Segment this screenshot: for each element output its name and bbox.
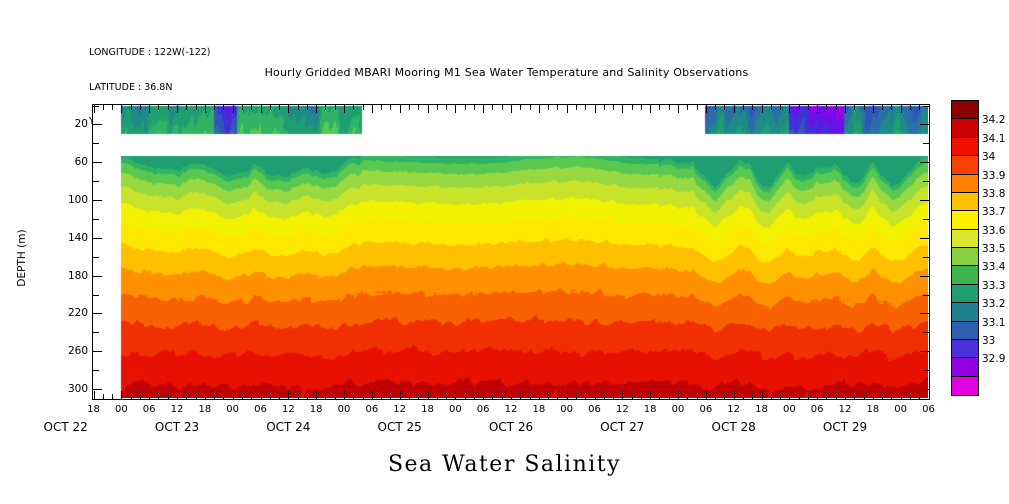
axis-tick — [502, 394, 503, 399]
axis-tick — [93, 124, 102, 125]
axis-tick — [168, 394, 169, 399]
axis-tick — [307, 105, 308, 110]
axis-tick — [446, 105, 447, 110]
axis-tick — [261, 391, 262, 399]
axis-tick — [140, 394, 141, 399]
axis-tick — [93, 238, 102, 239]
colorbar-band — [952, 193, 978, 211]
x-axis-hour-label: 18 — [198, 404, 211, 415]
axis-tick — [335, 105, 336, 110]
axis-tick — [158, 105, 159, 110]
colorbar-tick-label: 33 — [982, 335, 995, 347]
axis-tick — [923, 370, 929, 371]
axis-tick — [891, 105, 892, 110]
axis-tick — [223, 105, 224, 110]
axis-tick — [929, 391, 930, 399]
axis-tick — [465, 394, 466, 399]
axis-tick — [576, 394, 577, 399]
axis-tick — [641, 105, 642, 110]
figure-caption: Sea Water Salinity — [0, 452, 1009, 477]
x-axis-day-label: OCT 29 — [823, 420, 867, 434]
axis-tick — [557, 394, 558, 399]
x-axis-hour-label: 00 — [115, 404, 128, 415]
axis-tick — [910, 394, 911, 399]
x-axis-hour-label: 18 — [644, 404, 657, 415]
axis-tick — [595, 105, 596, 113]
axis-tick — [483, 105, 484, 113]
colorbar-band — [952, 230, 978, 248]
axis-tick — [93, 389, 102, 390]
x-axis-hour-label: 06 — [922, 404, 935, 415]
x-axis-day-label: OCT 28 — [712, 420, 756, 434]
axis-tick — [743, 105, 744, 110]
axis-tick — [771, 105, 772, 110]
axis-tick — [697, 394, 698, 399]
x-axis-hour-label: 18 — [755, 404, 768, 415]
axis-tick — [149, 391, 150, 399]
axis-tick — [929, 105, 930, 113]
y-axis-tick-label: 100 — [68, 194, 88, 206]
axis-tick — [576, 105, 577, 110]
axis-tick — [177, 391, 178, 399]
axis-tick — [344, 105, 345, 113]
axis-tick — [873, 105, 874, 113]
axis-tick — [279, 394, 280, 399]
axis-tick — [567, 391, 568, 399]
axis-tick — [687, 394, 688, 399]
axis-tick — [205, 105, 206, 113]
axis-tick — [548, 105, 549, 110]
axis-tick — [93, 295, 99, 296]
axis-tick — [920, 162, 929, 163]
axis-tick — [724, 105, 725, 110]
x-axis-hour-label: 06 — [477, 404, 490, 415]
axis-tick — [196, 394, 197, 399]
axis-tick — [335, 394, 336, 399]
x-axis-hour-label: 18 — [866, 404, 879, 415]
axis-tick — [261, 105, 262, 113]
axis-tick — [492, 105, 493, 110]
axis-tick — [93, 219, 99, 220]
axis-tick — [520, 394, 521, 399]
axis-tick — [762, 391, 763, 399]
axis-tick — [93, 181, 99, 182]
axis-tick — [93, 200, 102, 201]
axis-tick — [307, 394, 308, 399]
axis-tick — [808, 105, 809, 110]
axis-tick — [214, 105, 215, 110]
x-axis-hour-label: 06 — [699, 404, 712, 415]
axis-tick — [158, 394, 159, 399]
axis-tick — [687, 105, 688, 110]
x-axis-hour-label: 00 — [672, 404, 685, 415]
axis-tick — [112, 394, 113, 399]
axis-tick — [428, 105, 429, 113]
axis-tick — [632, 105, 633, 110]
axis-tick — [418, 394, 419, 399]
axis-tick — [920, 124, 929, 125]
colorbar-tick-label: 34.2 — [982, 114, 1005, 126]
axis-tick — [390, 394, 391, 399]
axis-tick — [920, 276, 929, 277]
axis-tick — [316, 105, 317, 113]
axis-tick — [789, 105, 790, 113]
colorbar-band — [952, 101, 978, 119]
colorbar-tick-label: 33.2 — [982, 298, 1005, 310]
axis-tick — [233, 391, 234, 399]
axis-tick — [659, 105, 660, 110]
axis-tick — [780, 105, 781, 110]
axis-tick — [734, 105, 735, 113]
axis-tick — [103, 394, 104, 399]
axis-tick — [131, 394, 132, 399]
axis-tick — [873, 391, 874, 399]
axis-tick — [465, 105, 466, 110]
axis-tick — [919, 394, 920, 399]
axis-tick — [585, 105, 586, 110]
axis-tick — [734, 391, 735, 399]
axis-tick — [94, 391, 95, 399]
axis-tick — [650, 105, 651, 113]
axis-tick — [93, 276, 102, 277]
x-axis-hour-label: 00 — [226, 404, 239, 415]
axis-tick — [920, 389, 929, 390]
colorbar-band — [952, 156, 978, 174]
axis-tick — [93, 313, 102, 314]
axis-tick — [196, 105, 197, 110]
x-axis-hour-label: 00 — [338, 404, 351, 415]
axis-tick — [93, 106, 99, 107]
axis-tick — [836, 394, 837, 399]
salinity-contour-field — [93, 105, 928, 398]
axis-tick — [474, 394, 475, 399]
axis-tick — [762, 105, 763, 113]
x-axis-day-label: OCT 22 — [44, 420, 88, 434]
axis-tick — [270, 105, 271, 110]
x-axis-hour-label: 12 — [616, 404, 629, 415]
axis-tick — [400, 391, 401, 399]
axis-tick — [613, 105, 614, 110]
axis-tick — [149, 105, 150, 113]
axis-tick — [864, 105, 865, 110]
colorbar-band — [952, 322, 978, 340]
axis-tick — [567, 105, 568, 113]
axis-tick — [854, 394, 855, 399]
x-axis-hour-label: 00 — [783, 404, 796, 415]
axis-tick — [93, 162, 102, 163]
colorbar-band — [952, 138, 978, 156]
axis-tick — [288, 105, 289, 113]
x-axis-day-label: OCT 23 — [155, 420, 199, 434]
axis-tick — [920, 238, 929, 239]
axis-tick — [121, 105, 122, 113]
axis-tick — [93, 143, 99, 144]
colorbar-tick-label: 33.7 — [982, 206, 1005, 218]
colorbar-band — [952, 211, 978, 229]
axis-tick — [251, 105, 252, 110]
x-axis-hour-label: 12 — [839, 404, 852, 415]
axis-tick — [845, 105, 846, 113]
colorbar-tick-label: 33.8 — [982, 188, 1005, 200]
axis-tick — [632, 394, 633, 399]
axis-tick — [437, 105, 438, 110]
axis-tick — [557, 105, 558, 110]
colorbar-band — [952, 285, 978, 303]
axis-tick — [854, 105, 855, 110]
axis-tick — [242, 105, 243, 110]
colorbar-band — [952, 358, 978, 376]
axis-tick — [372, 391, 373, 399]
axis-tick — [539, 105, 540, 113]
axis-tick — [428, 391, 429, 399]
axis-tick — [325, 105, 326, 110]
axis-tick — [205, 391, 206, 399]
y-axis-tick-label: 260 — [68, 345, 88, 357]
axis-tick — [882, 394, 883, 399]
axis-tick — [502, 105, 503, 110]
axis-tick — [131, 105, 132, 110]
x-axis-hour-label: 06 — [365, 404, 378, 415]
axis-tick — [455, 105, 456, 113]
axis-tick — [381, 105, 382, 110]
axis-tick — [920, 351, 929, 352]
axis-tick — [817, 105, 818, 113]
axis-tick — [923, 143, 929, 144]
colorbar-tick-label: 32.9 — [982, 353, 1005, 365]
x-axis-hour-labels: 1800061218000612180006121800061218000612… — [0, 404, 1009, 418]
colorbar-labels: 34.234.13433.933.833.733.633.533.433.333… — [982, 100, 1009, 400]
axis-tick — [752, 105, 753, 110]
salinity-plot-area — [92, 104, 930, 400]
axis-tick — [177, 105, 178, 113]
axis-tick — [845, 391, 846, 399]
axis-tick — [530, 394, 531, 399]
axis-tick — [483, 391, 484, 399]
colorbar-tick-label: 34.1 — [982, 133, 1005, 145]
axis-tick — [353, 394, 354, 399]
colorbar — [951, 100, 979, 396]
axis-tick — [103, 105, 104, 110]
axis-tick — [455, 391, 456, 399]
axis-tick — [622, 391, 623, 399]
axis-tick — [363, 394, 364, 399]
axis-tick — [140, 105, 141, 110]
axis-tick — [910, 105, 911, 110]
axis-tick — [920, 200, 929, 201]
x-axis-hour-label: 06 — [254, 404, 267, 415]
y-axis-tick-label: 180 — [68, 270, 88, 282]
axis-tick — [622, 105, 623, 113]
x-axis-hour-label: 00 — [894, 404, 907, 415]
axis-tick — [511, 105, 512, 113]
x-axis-day-label: OCT 27 — [600, 420, 644, 434]
x-axis-hour-label: 06 — [811, 404, 824, 415]
y-axis-tick-label: 220 — [68, 307, 88, 319]
axis-tick — [121, 391, 122, 399]
x-axis-day-label: OCT 24 — [266, 420, 310, 434]
latitude-text: LATITUDE : 36.8N — [89, 82, 211, 94]
axis-tick — [836, 105, 837, 110]
axis-tick — [279, 105, 280, 110]
axis-tick — [381, 394, 382, 399]
axis-tick — [251, 394, 252, 399]
axis-tick — [585, 394, 586, 399]
colorbar-tick-label: 33.1 — [982, 317, 1005, 329]
axis-tick — [325, 394, 326, 399]
y-axis-labels: 2060100140180220260300 — [38, 104, 88, 400]
x-axis-day-label: OCT 26 — [489, 420, 533, 434]
x-axis-hour-label: 12 — [505, 404, 518, 415]
axis-tick — [697, 105, 698, 110]
axis-tick — [186, 394, 187, 399]
x-axis-hour-label: 18 — [532, 404, 545, 415]
axis-tick — [242, 394, 243, 399]
y-axis-tick-label: 300 — [68, 383, 88, 395]
axis-tick — [706, 391, 707, 399]
colorbar-tick-label: 33.4 — [982, 261, 1005, 273]
axis-tick — [808, 394, 809, 399]
axis-tick — [659, 394, 660, 399]
axis-tick — [882, 105, 883, 110]
axis-tick — [372, 105, 373, 113]
x-axis-hour-label: 00 — [449, 404, 462, 415]
axis-tick — [771, 394, 772, 399]
axis-tick — [604, 394, 605, 399]
y-axis-title: DEPTH (m) — [16, 218, 28, 298]
axis-tick — [923, 295, 929, 296]
y-axis-tick-label: 20 — [75, 118, 88, 130]
axis-tick — [669, 394, 670, 399]
axis-tick — [520, 105, 521, 110]
axis-tick — [186, 105, 187, 110]
axis-tick — [168, 105, 169, 110]
axis-tick — [891, 394, 892, 399]
x-axis-hour-label: 00 — [560, 404, 573, 415]
axis-tick — [901, 105, 902, 113]
colorbar-band — [952, 119, 978, 137]
axis-tick — [548, 394, 549, 399]
axis-tick — [817, 391, 818, 399]
axis-tick — [400, 105, 401, 113]
colorbar-band — [952, 175, 978, 193]
colorbar-tick-label: 33.9 — [982, 170, 1005, 182]
x-axis-hour-label: 12 — [282, 404, 295, 415]
axis-tick — [492, 394, 493, 399]
axis-tick — [298, 105, 299, 110]
colorbar-band — [952, 377, 978, 395]
axis-tick — [214, 394, 215, 399]
axis-tick — [920, 313, 929, 314]
axis-tick — [595, 391, 596, 399]
colorbar-band — [952, 266, 978, 284]
x-axis-hour-label: 18 — [310, 404, 323, 415]
axis-tick — [344, 391, 345, 399]
axis-tick — [826, 394, 827, 399]
axis-tick — [511, 391, 512, 399]
plot-title-text: Hourly Gridded MBARI Mooring M1 Sea Wate… — [261, 66, 749, 79]
colorbar-band — [952, 248, 978, 266]
colorbar-tick-label: 33.5 — [982, 243, 1005, 255]
x-axis-day-label: OCT 25 — [378, 420, 422, 434]
colorbar-band — [952, 340, 978, 358]
axis-tick — [724, 394, 725, 399]
axis-tick — [669, 105, 670, 110]
axis-tick — [799, 394, 800, 399]
axis-tick — [715, 105, 716, 110]
axis-tick — [864, 394, 865, 399]
axis-tick — [923, 106, 929, 107]
axis-tick — [353, 105, 354, 110]
y-axis-tick-label: 60 — [75, 156, 88, 168]
axis-tick — [780, 394, 781, 399]
axis-tick — [446, 394, 447, 399]
colorbar-tick-label: 33.6 — [982, 225, 1005, 237]
axis-tick — [409, 105, 410, 110]
axis-tick — [650, 391, 651, 399]
axis-tick — [923, 257, 929, 258]
axis-tick — [826, 105, 827, 110]
axis-tick — [678, 105, 679, 113]
axis-tick — [288, 391, 289, 399]
axis-tick — [530, 105, 531, 110]
x-axis-hour-label: 06 — [588, 404, 601, 415]
axis-tick — [437, 394, 438, 399]
axis-tick — [923, 219, 929, 220]
axis-tick — [789, 391, 790, 399]
axis-tick — [474, 105, 475, 110]
axis-tick — [390, 105, 391, 110]
axis-tick — [233, 105, 234, 113]
axis-tick — [539, 391, 540, 399]
axis-tick — [363, 105, 364, 110]
x-axis-hour-label: 12 — [727, 404, 740, 415]
axis-tick — [409, 394, 410, 399]
axis-tick — [223, 394, 224, 399]
axis-tick — [93, 351, 102, 352]
axis-tick — [93, 257, 99, 258]
axis-tick — [418, 105, 419, 110]
axis-tick — [270, 394, 271, 399]
axis-tick — [752, 394, 753, 399]
axis-tick — [298, 394, 299, 399]
axis-tick — [678, 391, 679, 399]
axis-tick — [604, 105, 605, 110]
axis-tick — [93, 370, 99, 371]
colorbar-band — [952, 303, 978, 321]
axis-tick — [112, 105, 113, 110]
axis-tick — [706, 105, 707, 113]
axis-tick — [901, 391, 902, 399]
x-axis-hour-label: 18 — [421, 404, 434, 415]
x-axis-hour-label: 12 — [393, 404, 406, 415]
axis-tick — [923, 332, 929, 333]
axis-tick — [923, 181, 929, 182]
y-axis-tick-label: 140 — [68, 232, 88, 244]
colorbar-tick-label: 33.3 — [982, 280, 1005, 292]
x-axis-day-labels: OCT 22OCT 23OCT 24OCT 25OCT 26OCT 27OCT … — [0, 420, 1009, 438]
x-axis-hour-label: 12 — [171, 404, 184, 415]
axis-tick — [613, 394, 614, 399]
axis-tick — [641, 394, 642, 399]
x-axis-hour-label: 06 — [143, 404, 156, 415]
longitude-text: LONGITUDE : 122W(-122) — [89, 47, 211, 59]
axis-tick — [799, 105, 800, 110]
axis-tick — [93, 332, 99, 333]
axis-tick — [919, 105, 920, 110]
axis-tick — [743, 394, 744, 399]
axis-tick — [715, 394, 716, 399]
plot-title: Hourly Gridded MBARI Mooring M1 Sea Wate… — [0, 66, 1009, 79]
